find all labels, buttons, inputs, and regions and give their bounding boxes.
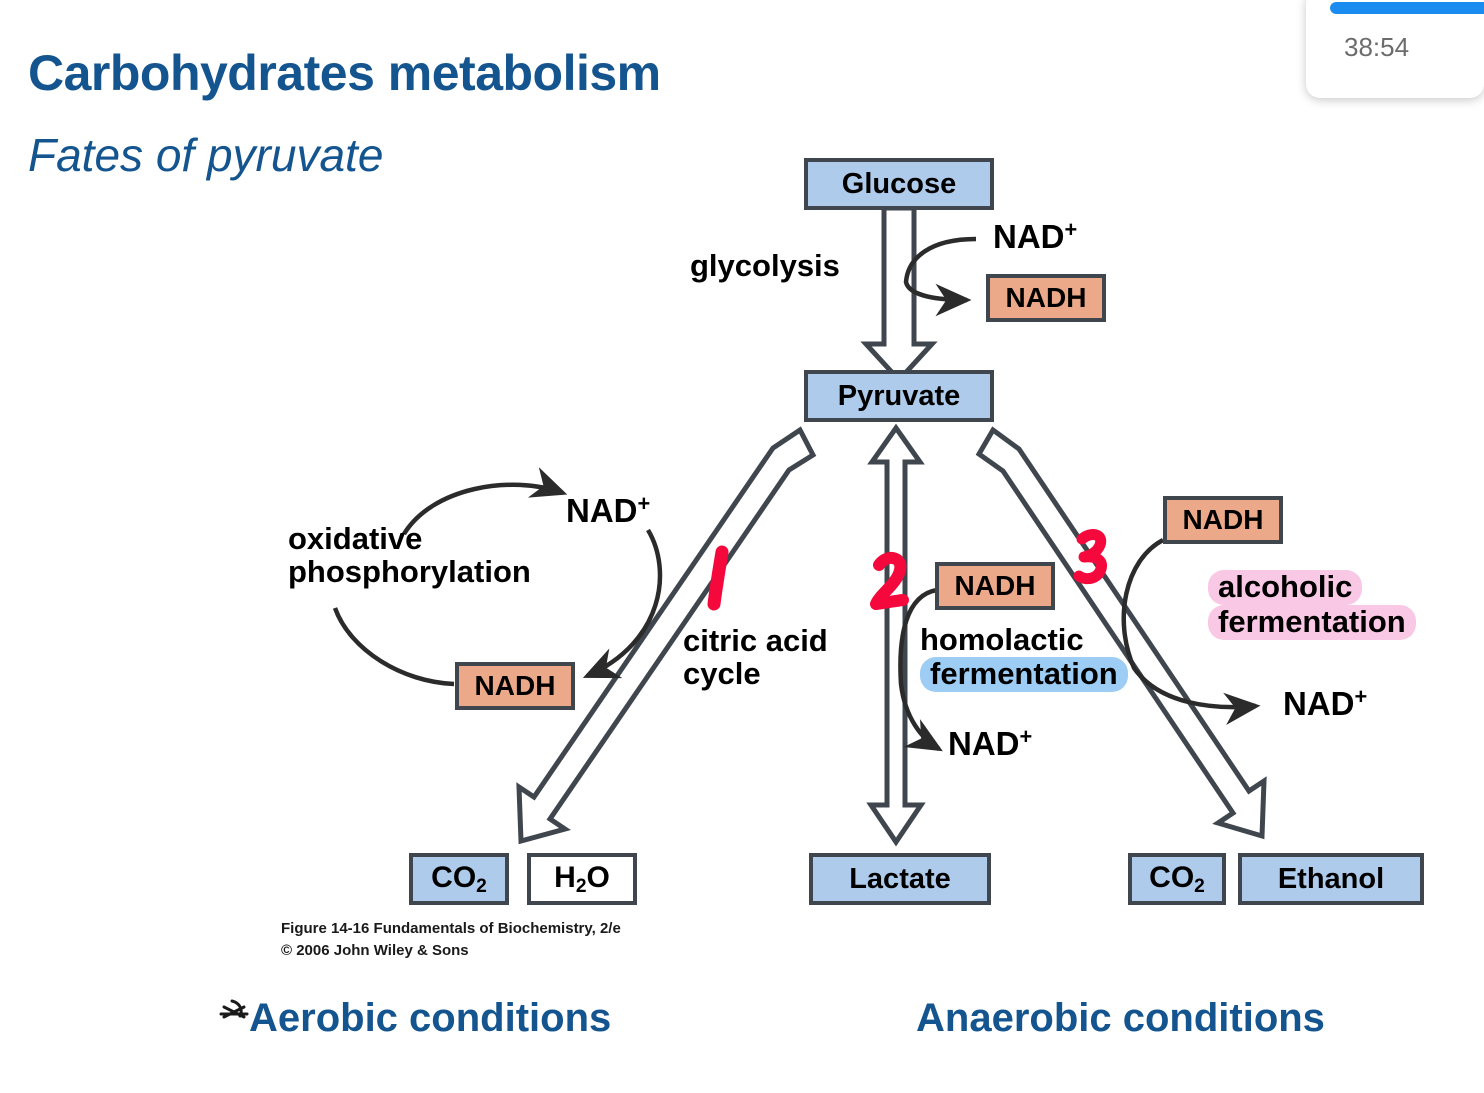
- node-nadh-oxidative-phosphorylation: NADH: [455, 662, 575, 710]
- label-oxidative-phosphorylation: oxidative phosphorylation: [288, 523, 531, 589]
- highlight-alcoholic-fermentation: fermentation: [1208, 605, 1416, 640]
- node-lactate: Lactate: [809, 853, 991, 905]
- figure-caption: Figure 14-16 Fundamentals of Biochemistr…: [281, 918, 621, 962]
- label-nad-plus-glycolysis: NAD+: [993, 218, 1077, 255]
- label-citric-acid-cycle: citric acid cycle: [683, 625, 828, 691]
- co2-formula: CO2: [431, 863, 487, 896]
- label-nad-plus-homolactic: NAD+: [948, 725, 1032, 762]
- diagram-arrow-layer: [0, 0, 1484, 1093]
- node-glucose: Glucose: [804, 158, 994, 210]
- curve-oxphos-lower: [335, 608, 454, 684]
- pyruvate-fates-diagram: Glucose Pyruvate NADH NADH NADH NADH CO2…: [0, 0, 1484, 1093]
- label-aerobic-conditions: Aerobic conditions: [249, 996, 611, 1041]
- node-ethanol: Ethanol: [1238, 853, 1424, 905]
- node-h2o: H2O: [527, 853, 637, 905]
- h2o-formula: H2O: [554, 863, 610, 896]
- ink-scribble-mark: [221, 1001, 247, 1017]
- node-nadh-homolactic: NADH: [935, 562, 1055, 610]
- annotation-red-1: [714, 552, 722, 604]
- label-alcoholic-fermentation: alcoholic fermentation: [1208, 570, 1416, 640]
- node-pyruvate: Pyruvate: [804, 370, 994, 422]
- label-nad-plus-oxphos: NAD+: [566, 492, 650, 529]
- label-glycolysis: glycolysis: [690, 250, 840, 283]
- figure-caption-line1: Figure 14-16 Fundamentals of Biochemistr…: [281, 918, 621, 940]
- node-co2-anaerobic: CO2: [1128, 853, 1226, 905]
- highlight-alcoholic-line1: alcoholic: [1208, 570, 1362, 605]
- node-nadh-glycolysis: NADH: [986, 274, 1106, 322]
- label-homolactic-fermentation: homolactic fermentation: [920, 624, 1128, 692]
- node-co2-aerobic: CO2: [409, 853, 509, 905]
- label-anaerobic-conditions: Anaerobic conditions: [916, 996, 1325, 1041]
- label-nad-plus-alcoholic: NAD+: [1283, 685, 1367, 722]
- node-nadh-alcoholic: NADH: [1163, 496, 1283, 544]
- highlight-homolactic-fermentation: fermentation: [920, 657, 1128, 692]
- co2-formula: CO2: [1149, 863, 1205, 896]
- figure-caption-line2: © 2006 John Wiley & Sons: [281, 940, 621, 962]
- arrow-homolactic-fermentation: [871, 428, 921, 842]
